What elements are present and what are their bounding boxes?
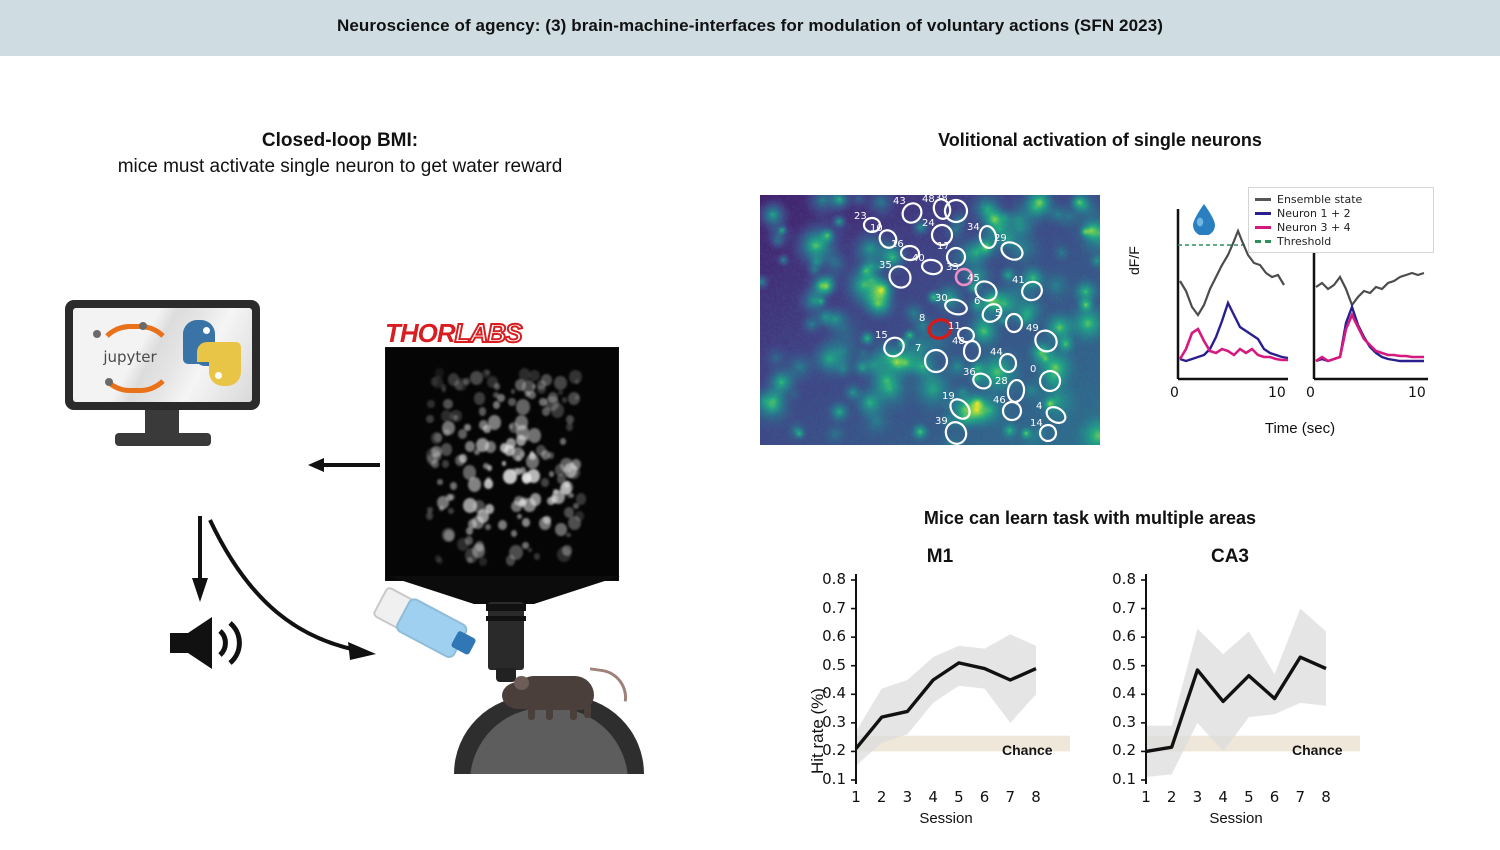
neuron-cell xyxy=(426,512,433,519)
roi-label: 41 xyxy=(1012,275,1025,286)
neuron-cell xyxy=(458,429,467,439)
neuron-cell xyxy=(511,389,515,394)
neuron-cell xyxy=(463,498,477,513)
jupyter-label: jupyter xyxy=(91,348,169,366)
thorlabs-logo: THORLABS xyxy=(385,318,595,348)
roi-label: 39 xyxy=(935,416,948,427)
dff-right-xtick-10: 10 xyxy=(1408,385,1426,401)
bmi-heading-line1: Closed-loop BMI: xyxy=(40,128,640,154)
neuron-cell xyxy=(427,454,436,464)
monitor-base xyxy=(115,433,211,446)
neuron-cell xyxy=(449,494,454,500)
neuron-cell xyxy=(437,479,443,485)
x-tick-label: 2 xyxy=(1165,788,1179,806)
calcium-imaging-panel: 2343483810162434291740353345413065498111… xyxy=(760,195,1100,445)
neuron-cell xyxy=(430,377,438,386)
neuron-cell xyxy=(541,478,549,487)
neuron-cell xyxy=(517,514,522,519)
legend-item: Ensemble state xyxy=(1255,192,1427,206)
bmi-heading-line2: mice must activate single neuron to get … xyxy=(40,154,640,180)
neuron-cell xyxy=(514,496,524,506)
neuron-cell xyxy=(427,400,434,408)
neuron-cell xyxy=(549,471,554,477)
roi-label: 45 xyxy=(967,273,980,284)
x-tick-label: 3 xyxy=(1190,788,1204,806)
neuron-cell xyxy=(474,392,486,405)
roi-label: 33 xyxy=(946,262,959,273)
neuron-cell xyxy=(548,452,554,459)
legend-item: Neuron 1 + 2 xyxy=(1255,206,1427,220)
roi-label: 11 xyxy=(948,321,961,332)
neuron-cell xyxy=(562,397,567,403)
roi-contour xyxy=(963,340,980,361)
neuron-cell xyxy=(484,479,493,488)
left-panel: Closed-loop BMI: mice must activate sing… xyxy=(40,110,690,750)
neuron-cell xyxy=(426,415,434,423)
x-tick-label: 3 xyxy=(900,788,914,806)
roi-label: 7 xyxy=(915,343,921,354)
roi-label: 46 xyxy=(993,395,1006,406)
neuron-cell xyxy=(442,421,455,435)
neuron-cell xyxy=(566,423,573,431)
neuron-cell xyxy=(463,378,470,385)
microscope-objective-icon xyxy=(488,602,524,670)
roi-label: 40 xyxy=(912,253,925,264)
chart-ca3: CA30.80.70.60.50.40.30.20.112345678Sessi… xyxy=(1100,550,1360,830)
multiarea-heading: Mice can learn task with multiple areas xyxy=(790,508,1390,529)
x-axis-label: Session xyxy=(1136,810,1336,827)
jupyter-icon: jupyter xyxy=(91,322,169,388)
neuron-cell xyxy=(539,517,551,530)
monitor-screen: jupyter xyxy=(73,308,252,402)
roi-contour xyxy=(1036,367,1063,394)
neuron-cell xyxy=(522,518,530,527)
roi-label: 8 xyxy=(919,313,925,324)
roi-overlay: 2343483810162434291740353345413065498111… xyxy=(760,195,1100,445)
neuron-cell xyxy=(488,415,502,430)
roi-label: 34 xyxy=(967,222,980,233)
neuron-cell xyxy=(536,445,546,456)
dff-left-xtick-10: 10 xyxy=(1268,385,1286,401)
neuron-cell xyxy=(542,407,550,416)
roi-label: 49 xyxy=(1026,323,1039,334)
roi-contour xyxy=(920,345,951,376)
neuron-cell xyxy=(516,399,530,414)
roi-label: 30 xyxy=(935,293,948,304)
chance-label: Chance xyxy=(1002,742,1053,758)
neuron-cell xyxy=(511,530,517,537)
neuron-cell xyxy=(506,555,516,566)
neuron-cell xyxy=(466,527,473,535)
two-photon-field-image xyxy=(385,347,619,581)
neuron-cell xyxy=(552,490,565,505)
neuron-cell xyxy=(450,482,457,490)
neuron-cell xyxy=(569,370,581,384)
roi-label: 44 xyxy=(990,347,1003,358)
x-tick-label: 6 xyxy=(978,788,992,806)
objective-ring xyxy=(486,604,526,611)
neuron-cell xyxy=(493,401,500,409)
x-tick-label: 1 xyxy=(1139,788,1153,806)
neuron-cell xyxy=(450,410,461,422)
neuron-cell xyxy=(534,553,540,560)
legend-label: Neuron 1 + 2 xyxy=(1277,207,1351,220)
chart-m1: M10.80.70.60.50.40.30.20.112345678Sessio… xyxy=(810,550,1070,830)
dff-x-axis-label: Time (sec) xyxy=(1190,420,1410,437)
legend-swatch xyxy=(1255,240,1271,243)
roi-label: 36 xyxy=(963,367,976,378)
neuron-cell xyxy=(465,536,473,545)
neuron-cell xyxy=(576,493,587,505)
roi-label: 0 xyxy=(1030,364,1036,375)
legend-swatch xyxy=(1255,212,1271,215)
neuron-cell xyxy=(442,528,454,542)
x-tick-label: 8 xyxy=(1319,788,1333,806)
neuron-cell xyxy=(568,392,580,405)
objective-ring-2 xyxy=(486,616,526,621)
neuron-cell xyxy=(485,504,494,514)
roi-label: 5 xyxy=(995,308,1001,319)
x-tick-label: 7 xyxy=(1003,788,1017,806)
neuron-cell xyxy=(537,385,546,395)
neuron-cell xyxy=(566,533,570,538)
x-tick-label: 2 xyxy=(875,788,889,806)
roi-label: 28 xyxy=(995,376,1008,387)
neuron-cell xyxy=(441,443,453,456)
neuron-cell xyxy=(571,459,581,470)
x-tick-label: 4 xyxy=(1216,788,1230,806)
x-axis-label: Session xyxy=(846,810,1046,827)
neuron-cell xyxy=(564,481,570,488)
roi-label: 4 xyxy=(1036,401,1042,412)
roi-label: 10 xyxy=(870,223,883,234)
roi-label: 15 xyxy=(875,330,888,341)
neuron-cell xyxy=(506,438,516,449)
neuron-cell xyxy=(472,516,484,529)
neuron-cell xyxy=(442,460,449,468)
roi-label: 19 xyxy=(942,391,955,402)
neuron-cell xyxy=(520,451,526,457)
roi-label: 38 xyxy=(935,195,948,204)
roi-label: 35 xyxy=(879,260,892,271)
neuron-cell xyxy=(555,523,566,536)
neuron-cell xyxy=(434,433,442,442)
neuron-cell xyxy=(485,441,496,453)
roi-label: 16 xyxy=(891,239,904,250)
legend-item: Neuron 3 + 4 xyxy=(1255,220,1427,234)
neuron-cell xyxy=(439,506,444,511)
neuron-cell xyxy=(448,508,454,514)
chart-plot-area xyxy=(810,550,1070,810)
y-axis-label: Hit rate (%) xyxy=(808,688,828,774)
neuron-cell xyxy=(528,548,532,553)
neuron-cell xyxy=(487,465,492,471)
roi-label: 43 xyxy=(893,196,906,207)
neuron-cell xyxy=(487,376,498,388)
dff-y-axis-label: dF/F xyxy=(1126,246,1142,275)
neuron-cell xyxy=(479,407,487,416)
neuron-cell xyxy=(485,524,490,530)
dff-right-xtick-0: 0 xyxy=(1306,385,1315,401)
dff-legend: Ensemble stateNeuron 1 + 2Neuron 3 + 4Th… xyxy=(1248,187,1434,253)
neuron-cell xyxy=(443,399,453,409)
speaker-icon xyxy=(168,615,248,671)
water-droplet-icon xyxy=(1192,203,1216,235)
roi-label: 23 xyxy=(854,211,867,222)
neuron-cell xyxy=(554,376,567,390)
mouse-icon xyxy=(502,668,618,718)
roi-label: 6 xyxy=(974,296,980,307)
neuron-cell xyxy=(557,547,571,562)
neuron-cell xyxy=(468,477,481,491)
roi-label: 14 xyxy=(1030,418,1043,429)
neuron-cell xyxy=(442,388,446,393)
neuron-cell xyxy=(528,428,542,443)
neuron-cell xyxy=(479,557,487,566)
arrow-left-icon xyxy=(308,458,382,472)
legend-label: Threshold xyxy=(1277,235,1331,248)
legend-label: Neuron 3 + 4 xyxy=(1277,221,1351,234)
neuron-cell xyxy=(515,415,528,429)
legend-item: Threshold xyxy=(1255,234,1427,248)
roi-label: 48 xyxy=(922,195,935,205)
legend-label: Ensemble state xyxy=(1277,193,1362,206)
neuron-cell xyxy=(479,420,488,430)
x-tick-label: 7 xyxy=(1293,788,1307,806)
neuron-cell xyxy=(472,544,484,557)
neuron-cell xyxy=(525,475,531,482)
thorlabs-thor-text: THOR xyxy=(385,318,455,348)
x-tick-label: 5 xyxy=(1242,788,1256,806)
x-tick-label: 6 xyxy=(1268,788,1282,806)
neuron-cell xyxy=(435,555,441,561)
neuron-cell xyxy=(482,369,490,378)
neuron-cell xyxy=(558,390,563,396)
roi-label: 48 xyxy=(952,336,965,347)
hit-rate-charts: Mice can learn task with multiple areas … xyxy=(700,530,1490,850)
legend-swatch xyxy=(1255,198,1271,201)
closed-loop-bmi-heading: Closed-loop BMI: mice must activate sing… xyxy=(40,128,640,179)
neuron-cell xyxy=(474,449,480,455)
neuron-cell xyxy=(508,398,516,406)
page-title: Neuroscience of agency: (3) brain-machin… xyxy=(0,16,1500,36)
right-panel: Volitional activation of single neurons … xyxy=(700,110,1490,840)
x-tick-label: 8 xyxy=(1029,788,1043,806)
neuron-cell xyxy=(541,374,552,386)
legend-swatch xyxy=(1255,226,1271,229)
roi-label: 17 xyxy=(937,241,950,252)
roi-label: 29 xyxy=(994,233,1007,244)
dff-trace-panel: dF/F 0 10 0 xyxy=(1130,195,1460,450)
roi-contour xyxy=(1006,379,1025,403)
imaging-rig xyxy=(370,576,660,736)
neuron-cell xyxy=(560,438,566,444)
neuron-cell xyxy=(493,392,498,398)
x-tick-label: 5 xyxy=(952,788,966,806)
x-tick-label: 4 xyxy=(926,788,940,806)
thorlabs-labs-text: LABS xyxy=(455,318,522,348)
roi-contour xyxy=(1006,314,1022,332)
neuron-cell xyxy=(498,520,507,530)
neuron-cell xyxy=(455,455,465,466)
neuron-cell xyxy=(502,461,507,466)
neuron-cell xyxy=(569,493,574,498)
roi-label: 24 xyxy=(922,218,935,229)
neuron-cell xyxy=(526,454,539,469)
roi-contour xyxy=(1044,404,1068,426)
neuron-cell xyxy=(530,493,541,505)
chart-plot-area xyxy=(1100,550,1360,810)
x-tick-label: 1 xyxy=(849,788,863,806)
neuron-cell xyxy=(463,465,476,480)
neuron-cell xyxy=(575,511,583,520)
neuron-cell xyxy=(522,380,535,394)
neuron-cell xyxy=(529,370,540,382)
python-icon xyxy=(181,320,243,386)
dff-left-xtick-0: 0 xyxy=(1170,385,1179,401)
computer-monitor: jupyter xyxy=(65,300,260,410)
volitional-activation-heading: Volitional activation of single neurons xyxy=(800,130,1400,151)
chance-label: Chance xyxy=(1292,742,1343,758)
